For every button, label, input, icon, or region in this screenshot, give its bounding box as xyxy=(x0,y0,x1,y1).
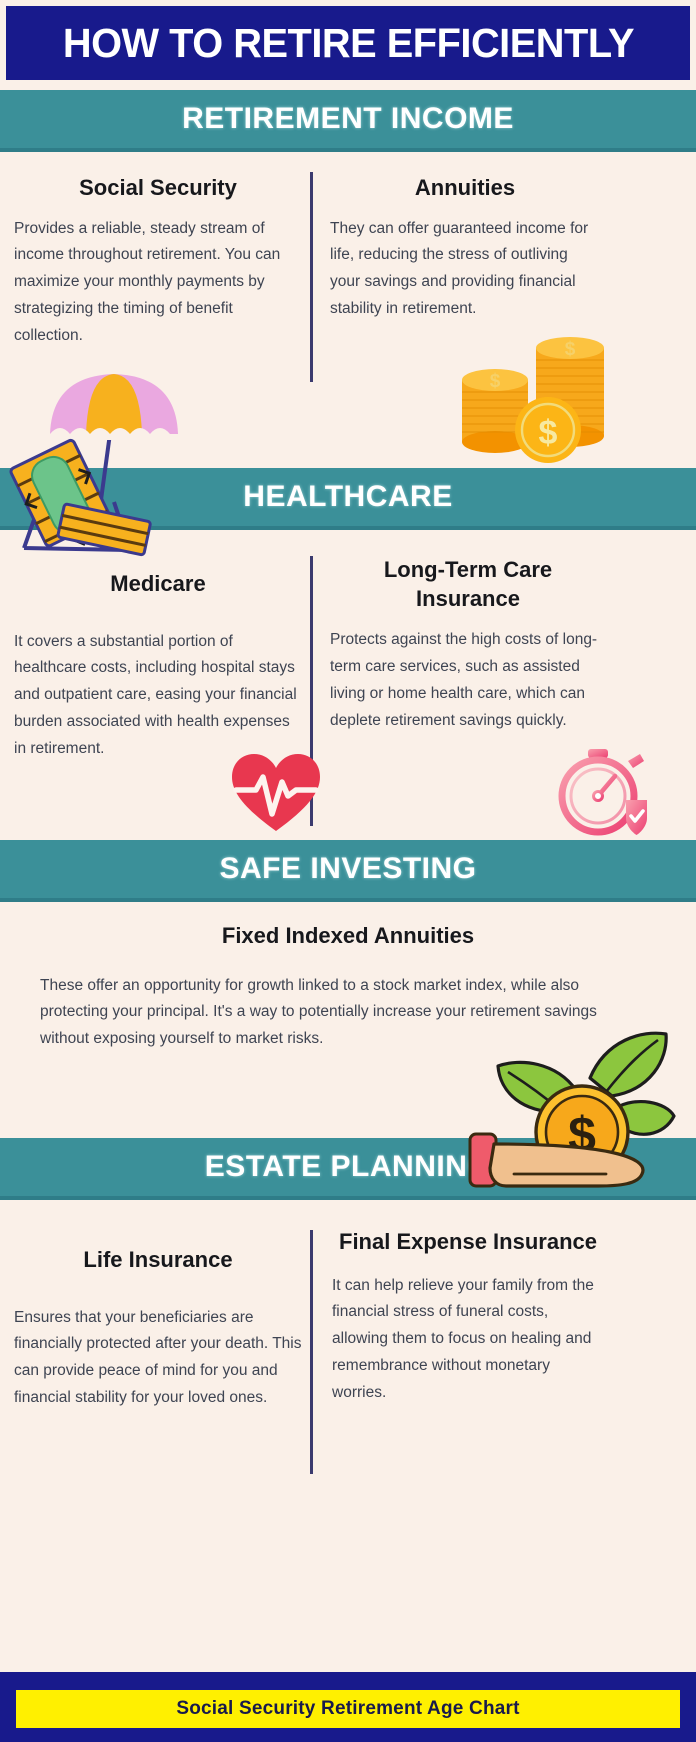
svg-text:$: $ xyxy=(490,371,501,392)
card-heading: Social Security xyxy=(14,174,302,203)
section-banner-label: SAFE INVESTING xyxy=(219,852,476,886)
section-banner-retirement-income: RETIREMENT INCOME xyxy=(0,90,696,152)
heartbeat-icon xyxy=(230,752,322,834)
infographic-page: HOW TO RETIRE EFFICIENTLY RETIREMENT INC… xyxy=(0,0,696,1742)
card-long-term-care-insurance: Long-Term Care Insurance Protects agains… xyxy=(330,556,606,734)
card-heading: Medicare xyxy=(14,570,302,599)
footer-cta-label: Social Security Retirement Age Chart xyxy=(176,1698,519,1720)
page-title-bar: HOW TO RETIRE EFFICIENTLY xyxy=(6,6,690,80)
card-annuities: Annuities They can offer guaranteed inco… xyxy=(330,174,600,323)
card-heading: Final Expense Insurance xyxy=(332,1228,604,1257)
section-banner-safe-investing: SAFE INVESTING xyxy=(0,840,696,902)
hand-coin-plant-icon: $ xyxy=(460,1016,678,1196)
card-body: They can offer guaranteed income for lif… xyxy=(330,216,600,323)
section-banner-label: RETIREMENT INCOME xyxy=(182,102,514,136)
section-banner-label: ESTATE PLANNING xyxy=(205,1150,491,1184)
card-body: Protects against the high costs of long-… xyxy=(330,627,606,734)
coin-stacks-icon: $ $ $ xyxy=(452,326,622,466)
column-divider xyxy=(310,1230,313,1474)
card-heading: Annuities xyxy=(330,174,600,203)
card-body: It covers a substantial portion of healt… xyxy=(14,629,302,763)
card-social-security: Social Security Provides a reliable, ste… xyxy=(14,174,302,350)
card-heading: Fixed Indexed Annuities xyxy=(40,922,656,951)
svg-text:$: $ xyxy=(565,339,576,360)
column-divider xyxy=(310,172,313,382)
footer-cta-banner[interactable]: Social Security Retirement Age Chart xyxy=(16,1690,680,1728)
card-heading: Long-Term Care Insurance xyxy=(330,556,606,613)
card-body: Provides a reliable, steady stream of in… xyxy=(14,216,302,350)
card-medicare: Medicare It covers a substantial portion… xyxy=(14,570,302,763)
card-life-insurance: Life Insurance Ensures that your benefic… xyxy=(14,1246,302,1412)
page-title: HOW TO RETIRE EFFICIENTLY xyxy=(62,20,633,67)
card-body: It can help relieve your family from the… xyxy=(332,1273,604,1407)
card-heading: Life Insurance xyxy=(14,1246,302,1275)
svg-text:$: $ xyxy=(539,414,558,452)
stopwatch-shield-icon xyxy=(552,748,650,838)
card-body: Ensures that your beneficiaries are fina… xyxy=(14,1305,302,1412)
beach-umbrella-lounger-icon xyxy=(6,362,196,562)
section-banner-label: HEALTHCARE xyxy=(243,480,452,514)
card-final-expense-insurance: Final Expense Insurance It can help reli… xyxy=(332,1228,604,1407)
